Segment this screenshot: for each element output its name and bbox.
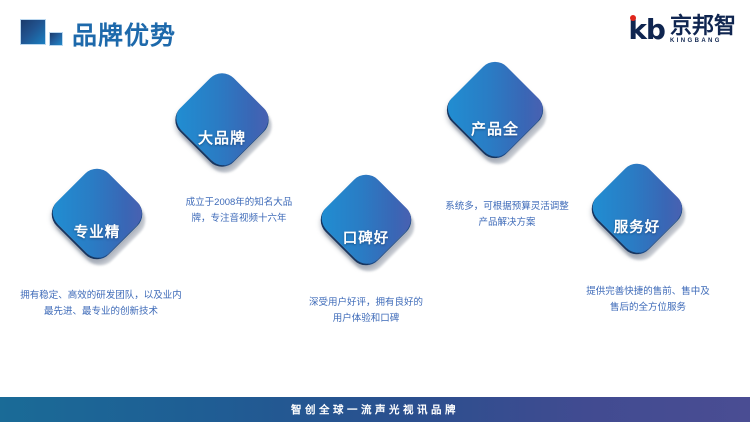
page-title: 品牌优势 [72, 16, 176, 52]
diamond-shape[interactable] [440, 55, 550, 165]
feature-description-1: 拥有稳定、高效的研发团队，以及业内最先进、最专业的创新技术 [18, 288, 184, 320]
diamond-shape[interactable] [168, 66, 275, 173]
header-square-large-icon [20, 19, 46, 45]
diamond-shape[interactable] [314, 168, 419, 273]
page-header: 品牌优势 kb 京邦智 KINGBANG [0, 0, 750, 62]
feature-description-3: 深受用户好评，拥有良好的用户体验和口碑 [305, 295, 427, 327]
feature-description-2: 成立于2008年的知名大品牌，专注音视频十六年 [178, 195, 300, 227]
feature-label-2: 大品牌 [158, 127, 286, 148]
feature-description-4: 系统多，可根据预算灵活调整产品解决方案 [445, 199, 569, 231]
logo-name-en: KINGBANG [670, 37, 736, 45]
feature-label-3: 口碑好 [303, 227, 429, 248]
logo-mark-kb: kb [628, 16, 665, 44]
footer-slogan: 智创全球一流声光视讯品牌 [291, 402, 459, 417]
logo-name-cn: 京邦智 [670, 15, 736, 36]
feature-description-5: 提供完善快捷的售前、售中及售后的全方位服务 [583, 284, 713, 316]
feature-label-4: 产品全 [430, 118, 560, 139]
header-square-small-icon [49, 32, 63, 46]
diamond-shape[interactable] [45, 162, 150, 267]
diamond-shape[interactable] [585, 157, 690, 262]
brand-logo: kb 京邦智 KINGBANG [628, 14, 736, 46]
page-footer: 智创全球一流声光视讯品牌 [0, 397, 750, 422]
feature-label-5: 服务好 [574, 216, 700, 237]
logo-wordmark: 京邦智 KINGBANG [670, 15, 736, 45]
feature-label-1: 专业精 [34, 221, 160, 242]
